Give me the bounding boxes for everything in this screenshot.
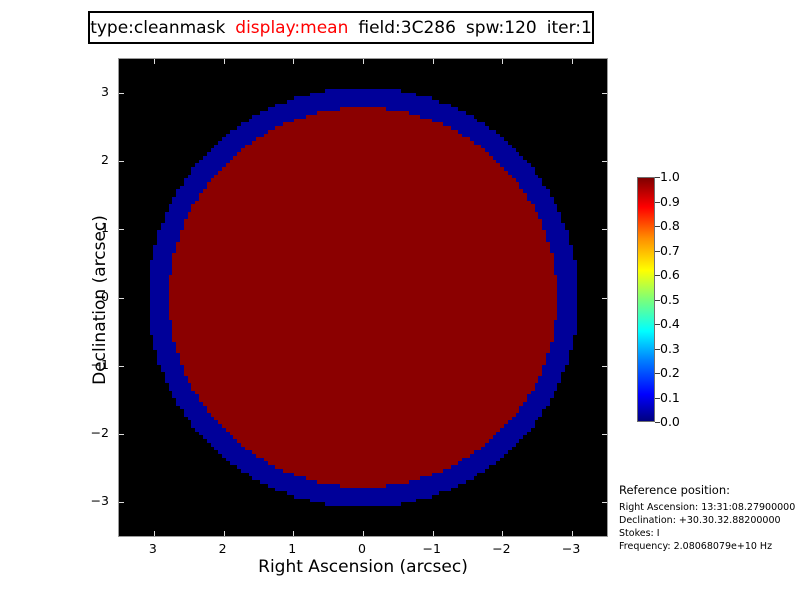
y-tick-mark	[602, 93, 607, 94]
x-tick-mark	[224, 531, 225, 536]
x-tick-mark	[154, 531, 155, 536]
x-tick-mark	[154, 59, 155, 64]
x-tick-mark	[433, 531, 434, 536]
y-tick-mark	[602, 161, 607, 162]
colorbar-tick-label: 0.2	[660, 365, 680, 380]
y-tick-mark	[119, 434, 124, 435]
title-bar: type:cleanmask display:mean field:3C286 …	[88, 11, 594, 44]
cleanmask-heatmap	[119, 59, 607, 536]
title-segment-field: field:3C286	[353, 18, 461, 38]
x-tick-mark	[572, 531, 573, 536]
title-segment-type: type:cleanmask	[85, 18, 230, 38]
x-tick-label: 3	[133, 541, 173, 556]
x-tick-mark	[502, 531, 503, 536]
meta-right-ascension: Right Ascension: 13:31:08.27900000	[619, 501, 799, 514]
x-tick-label: 2	[203, 541, 243, 556]
colorbar-tick-label: 0.3	[660, 341, 680, 356]
colorbar-tick-label: 0.6	[660, 267, 680, 282]
y-tick-mark	[119, 161, 124, 162]
colorbar[interactable]	[637, 177, 655, 422]
colorbar-gradient	[637, 177, 655, 422]
y-tick-mark	[119, 366, 124, 367]
x-tick-mark	[293, 531, 294, 536]
x-tick-mark	[224, 59, 225, 64]
y-axis-title: Declination (arcsec)	[90, 60, 110, 540]
colorbar-tick-label: 0.1	[660, 390, 680, 405]
x-tick-mark	[572, 59, 573, 64]
colorbar-tick-label: 0.4	[660, 316, 680, 331]
y-tick-mark	[602, 502, 607, 503]
y-tick-mark	[119, 229, 124, 230]
x-tick-mark	[502, 59, 503, 64]
colorbar-tick-label: 0.9	[660, 194, 680, 209]
title-segment-iter: iter:1	[542, 18, 597, 38]
reference-position-block: Reference position: Right Ascension: 13:…	[619, 483, 799, 553]
colorbar-tick-label: 0.8	[660, 218, 680, 233]
reference-position-heading: Reference position:	[619, 483, 799, 497]
x-tick-mark	[293, 59, 294, 64]
y-tick-mark	[602, 298, 607, 299]
x-tick-label: −1	[412, 541, 452, 556]
colorbar-tick-label: 1.0	[660, 169, 680, 184]
y-tick-mark	[602, 434, 607, 435]
x-tick-mark	[363, 531, 364, 536]
x-tick-label: −3	[551, 541, 591, 556]
meta-stokes: Stokes: I	[619, 527, 799, 540]
y-tick-mark	[602, 229, 607, 230]
title-segment-display: display:mean	[230, 18, 353, 38]
meta-frequency: Frequency: 2.08068079e+10 Hz	[619, 540, 799, 553]
colorbar-tick-label: 0.0	[660, 414, 680, 429]
colorbar-tick-label: 0.7	[660, 243, 680, 258]
meta-declination: Declination: +30.30.32.88200000	[619, 514, 799, 527]
image-plot-area[interactable]	[118, 58, 608, 537]
x-axis-title: Right Ascension (arcsec)	[118, 557, 608, 577]
y-tick-mark	[119, 502, 124, 503]
x-tick-label: −2	[481, 541, 521, 556]
y-tick-mark	[119, 93, 124, 94]
x-tick-label: 1	[272, 541, 312, 556]
y-tick-mark	[602, 366, 607, 367]
colorbar-tick-label: 0.5	[660, 292, 680, 307]
x-tick-label: 0	[342, 541, 382, 556]
x-tick-mark	[363, 59, 364, 64]
y-tick-mark	[119, 298, 124, 299]
title-segment-spw: spw:120	[461, 18, 542, 38]
x-tick-mark	[433, 59, 434, 64]
